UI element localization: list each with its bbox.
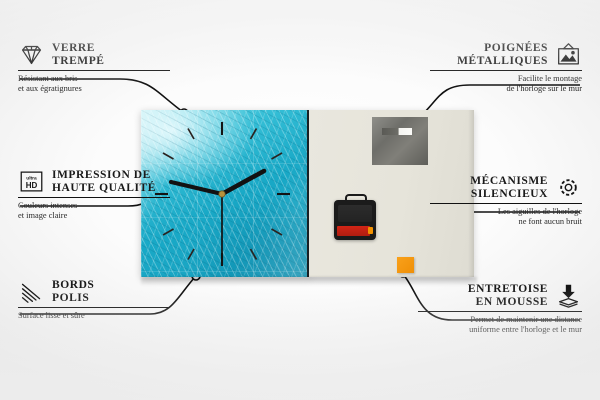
- feature-poignees-metalliques: POIGNÉES MÉTALLIQUES Facilite le montage…: [430, 42, 582, 94]
- picture-hanger-icon: [555, 42, 582, 67]
- feature-title-2: MÉTALLIQUES: [457, 55, 548, 68]
- feature-title: BORDS: [52, 279, 94, 292]
- feature-desc-1: Les aiguilles de l'horloge: [430, 207, 582, 217]
- feature-desc-1: Surface lisse et sûre: [18, 311, 170, 321]
- feature-title: VERRE: [52, 42, 105, 55]
- feature-title: MÉCANISME: [470, 175, 548, 188]
- feature-entretoise-en-mousse: ENTRETOISE EN MOUSSE Permet de maintenir…: [418, 283, 582, 335]
- battery: [337, 226, 370, 236]
- feature-rule: [430, 203, 582, 204]
- foam-spacer-icon: [555, 283, 582, 308]
- feature-impression-haute-qualite: ultra HD IMPRESSION DE HAUTE QUALITÉ Cou…: [18, 169, 170, 221]
- feature-bords-polis: BORDS POLIS Surface lisse et sûre: [18, 279, 170, 321]
- infographic-canvas: VERRE TREMPÉ Résistant aux bris et aux é…: [0, 0, 600, 400]
- feature-desc-2: uniforme entre l'horloge et le mur: [418, 325, 582, 335]
- gear-icon: [555, 175, 582, 200]
- feature-title: IMPRESSION DE: [52, 169, 156, 182]
- diamond-icon: [18, 42, 45, 67]
- mechanism-panel: [338, 205, 372, 222]
- feature-rule: [18, 197, 170, 198]
- feature-desc-2: ne font aucun bruit: [430, 217, 582, 227]
- feature-verre-trempe: VERRE TREMPÉ Résistant aux bris et aux é…: [18, 42, 170, 94]
- feature-desc-1: Résistant aux bris: [18, 74, 170, 84]
- feature-desc-2: et image claire: [18, 211, 170, 221]
- feature-title-2: HAUTE QUALITÉ: [52, 182, 156, 195]
- metal-hanger-plate: [372, 117, 428, 165]
- feature-title: ENTRETOISE: [468, 283, 548, 296]
- ultra-hd-icon: ultra HD: [18, 169, 45, 194]
- feature-title-2: TREMPÉ: [52, 55, 105, 68]
- feature-desc-2: de l'horloge sur le mur: [430, 84, 582, 94]
- feature-title: POIGNÉES: [457, 42, 548, 55]
- feature-mecanisme-silencieux: MÉCANISME SILENCIEUX Les aiguilles de l'…: [430, 175, 582, 227]
- foam-spacer: [397, 257, 414, 273]
- feature-rule: [430, 70, 582, 71]
- clock-mechanism-box: [334, 200, 376, 240]
- feature-title-2: SILENCIEUX: [470, 188, 548, 201]
- feature-desc-1: Couleurs intenses: [18, 201, 170, 211]
- feature-rule: [18, 307, 170, 308]
- feature-rule: [418, 311, 582, 312]
- mechanism-hook: [345, 194, 367, 205]
- feature-desc-1: Facilite le montage: [430, 74, 582, 84]
- polished-edge-icon: [18, 279, 45, 304]
- feature-desc-1: Permet de maintenir une distance: [418, 315, 582, 325]
- svg-text:HD: HD: [26, 181, 38, 190]
- feature-rule: [18, 70, 170, 71]
- feature-title-2: EN MOUSSE: [468, 296, 548, 309]
- feature-desc-2: et aux égratignures: [18, 84, 170, 94]
- feature-title-2: POLIS: [52, 292, 94, 305]
